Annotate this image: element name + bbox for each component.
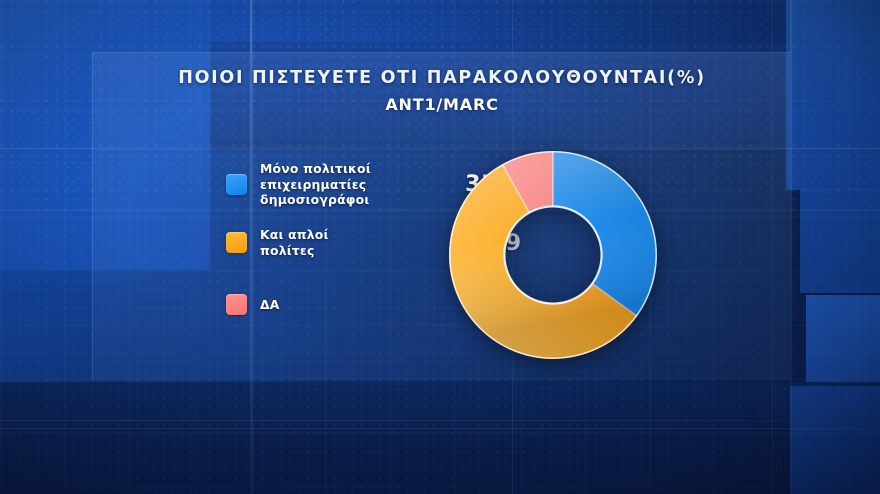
- donut-chart: [441, 143, 665, 367]
- legend-item-label: Μόνο πολιτικοί επιχειρηματίες δημοσιογρά…: [260, 161, 465, 208]
- donut-hole: [506, 208, 601, 303]
- donut-chart-svg: [441, 143, 665, 367]
- legend-swatch-orange: [226, 232, 247, 253]
- page-title: ΠΟΙΟΙ ΠΙΣΤΕΥΕΤΕ ΟΤΙ ΠΑΡΑΚΟΛΟΥΘΟΥΝΤΑΙ(%): [93, 68, 791, 88]
- chart-panel: ΠΟΙΟΙ ΠΙΣΤΕΥΕΤΕ ΟΤΙ ΠΑΡΑΚΟΛΟΥΘΟΥΝΤΑΙ(%) …: [92, 52, 790, 380]
- legend-swatch-blue: [226, 174, 247, 195]
- source-label: ANT1/MARC: [93, 95, 791, 114]
- legend-swatch-salmon: [226, 294, 247, 315]
- chart-header: ΠΟΙΟΙ ΠΙΣΤΕΥΕΤΕ ΟΤΙ ΠΑΡΑΚΟΛΟΥΘΟΥΝΤΑΙ(%) …: [93, 68, 791, 114]
- legend-item-label: Και απλοί πολίτες: [260, 227, 465, 258]
- legend-item-label: ΔΑ: [260, 297, 465, 313]
